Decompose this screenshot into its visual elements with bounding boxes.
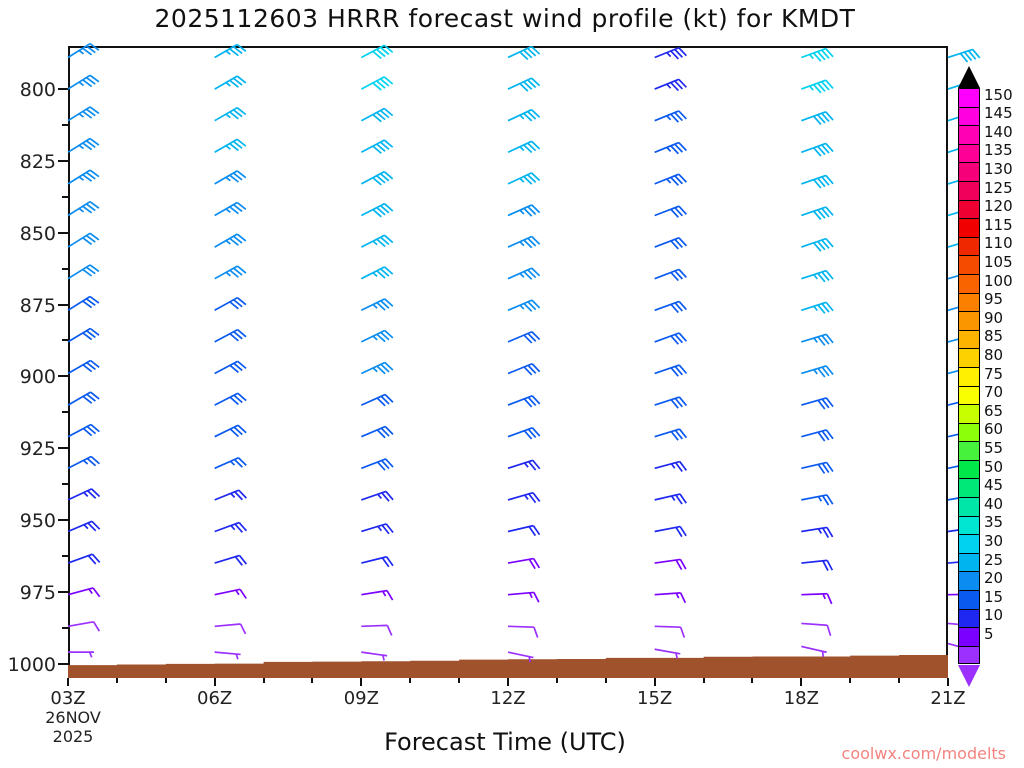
wind-barb xyxy=(68,202,99,216)
wind-barb xyxy=(508,626,538,637)
colorbar-tick-label: 45 xyxy=(984,476,1003,494)
colorbar-tick-label: 75 xyxy=(984,365,1003,383)
colorbar-cell[interactable] xyxy=(958,162,980,181)
wind-barb xyxy=(361,591,392,600)
wind-barb xyxy=(361,299,392,310)
wind-barb xyxy=(215,523,247,533)
wind-barb xyxy=(68,521,100,531)
colorbar-cell[interactable] xyxy=(958,590,980,609)
colorbar-cell[interactable] xyxy=(958,404,980,423)
wind-barb xyxy=(361,459,393,470)
wind-barb xyxy=(801,527,832,537)
colorbar-cell[interactable] xyxy=(958,367,980,386)
wind-barb xyxy=(215,490,247,500)
wind-barb xyxy=(361,235,392,247)
colorbar-tick-label: 70 xyxy=(984,383,1003,401)
wind-barb xyxy=(68,489,100,500)
wind-barb xyxy=(215,76,246,89)
colorbar-tick-label: 55 xyxy=(984,439,1003,457)
wind-barb xyxy=(655,494,687,504)
wind-barb xyxy=(655,238,687,249)
wind-barb xyxy=(68,554,100,564)
wind-barb xyxy=(361,77,392,90)
colorbar-tick-label: 110 xyxy=(984,234,1013,252)
wind-barb xyxy=(215,393,246,405)
colorbar-cell[interactable] xyxy=(958,107,980,126)
colorbar-cell[interactable] xyxy=(958,423,980,442)
colorbar-tick-label: 40 xyxy=(984,495,1003,513)
wind-barb xyxy=(801,646,826,656)
watermark: coolwx.com/modelts xyxy=(842,744,1006,763)
wind-barb xyxy=(215,555,247,565)
wind-barb xyxy=(801,302,833,313)
colorbar-tick-label: 30 xyxy=(984,532,1003,550)
wind-barb xyxy=(68,652,94,657)
wind-barb-column xyxy=(215,44,247,659)
colorbar-cell[interactable] xyxy=(958,460,980,479)
wind-barb xyxy=(801,495,832,505)
wind-barb xyxy=(361,524,393,534)
wind-barb xyxy=(215,589,247,598)
colorbar-cell[interactable] xyxy=(958,293,980,312)
wind-barb xyxy=(68,360,99,373)
colorbar-tick-label: 35 xyxy=(984,513,1003,531)
colorbar-tick-label: 80 xyxy=(984,346,1003,364)
wind-barb xyxy=(361,140,392,153)
colorbar-tick-label: 10 xyxy=(984,606,1003,624)
wind-barb xyxy=(361,395,393,406)
colorbar-cell[interactable] xyxy=(958,627,980,646)
wind-barb xyxy=(215,234,246,247)
wind-barb xyxy=(68,139,99,153)
wind-barb xyxy=(655,365,687,376)
colorbar-cell[interactable] xyxy=(958,478,980,497)
colorbar-cell[interactable] xyxy=(958,144,980,163)
wind-barb xyxy=(68,588,100,597)
wind-barb xyxy=(361,652,387,660)
colorbar-cell[interactable] xyxy=(958,88,980,107)
colorbar-tick-label: 15 xyxy=(984,588,1003,606)
colorbar-cell[interactable] xyxy=(958,181,980,200)
wind-barb xyxy=(655,527,686,537)
wind-barb xyxy=(68,456,99,468)
colorbar-cell[interactable] xyxy=(958,200,980,219)
colorbar-cell[interactable] xyxy=(958,609,980,628)
colorbar-cell[interactable] xyxy=(958,255,980,274)
colorbar-cell[interactable] xyxy=(958,218,980,237)
wind-barb xyxy=(801,560,832,570)
colorbar-tick-label: 60 xyxy=(984,420,1003,438)
wind-barb xyxy=(215,171,246,184)
wind-barb xyxy=(215,624,246,634)
wind-barb xyxy=(215,458,247,469)
wind-barb xyxy=(801,430,833,441)
wind-barb xyxy=(361,330,392,341)
wind-barb xyxy=(801,462,833,473)
colorbar-tick-label: 145 xyxy=(984,104,1013,122)
wind-barb-column xyxy=(655,48,687,659)
wind-barb xyxy=(361,363,393,374)
wind-barb xyxy=(655,79,687,90)
wind-barb xyxy=(801,143,833,156)
wind-barb xyxy=(215,108,246,121)
wind-barb xyxy=(508,364,540,375)
wind-profile-chart: 2025112603 HRRR forecast wind profile (k… xyxy=(0,0,1024,768)
colorbar-tick-label: 50 xyxy=(984,458,1003,476)
colorbar-tick-label: 65 xyxy=(984,402,1003,420)
wind-barb xyxy=(68,233,99,247)
colorbar-tick-label: 95 xyxy=(984,290,1003,308)
colorbar-tick-label: 100 xyxy=(984,272,1013,290)
wind-barb xyxy=(215,425,246,436)
wind-barb xyxy=(508,332,540,343)
wind-barb xyxy=(655,111,687,122)
wind-barb xyxy=(215,330,246,342)
wind-barb xyxy=(68,75,99,89)
colorbar-cell[interactable] xyxy=(958,386,980,405)
colorbar-under-arrow xyxy=(958,665,980,687)
wind-barb xyxy=(655,333,687,344)
wind-barb xyxy=(508,428,540,439)
colorbar-tick-label: 5 xyxy=(984,625,994,643)
wind-barb xyxy=(508,460,540,470)
wind-barb xyxy=(801,271,833,282)
wind-barb xyxy=(801,594,831,604)
wind-barb xyxy=(361,625,391,635)
wind-barb-column xyxy=(508,47,540,663)
wind-barb xyxy=(508,592,539,602)
wind-barb xyxy=(68,44,99,58)
colorbar-tick-label: 115 xyxy=(984,216,1013,234)
wind-barb xyxy=(508,47,540,60)
wind-barb xyxy=(801,366,833,377)
wind-barb xyxy=(508,237,540,248)
wind-barb xyxy=(508,268,540,279)
colorbar-cell[interactable] xyxy=(958,534,980,553)
wind-barb xyxy=(801,49,833,62)
wind-barb xyxy=(215,298,246,311)
wind-barb xyxy=(68,107,99,121)
wind-barb xyxy=(801,398,833,409)
wind-barb xyxy=(361,45,392,58)
wind-barb xyxy=(68,297,99,311)
wind-barb xyxy=(508,78,540,91)
wind-barb xyxy=(68,424,99,436)
wind-barb xyxy=(801,239,833,252)
wind-barb xyxy=(361,491,393,501)
wind-barb xyxy=(215,139,246,152)
wind-barb xyxy=(215,361,246,373)
colorbar-cell[interactable] xyxy=(958,571,980,590)
wind-barb xyxy=(655,269,687,280)
colorbar-cell[interactable] xyxy=(958,330,980,349)
colorbar-over-arrow xyxy=(958,66,980,88)
colorbar-cell[interactable] xyxy=(958,348,980,367)
wind-barb xyxy=(655,143,687,154)
colorbar-tick-label: 90 xyxy=(984,309,1003,327)
wind-barb xyxy=(801,175,833,188)
wind-barb xyxy=(655,429,687,440)
colorbar-tick-label: 125 xyxy=(984,179,1013,197)
wind-barb xyxy=(68,265,99,279)
wind-barb xyxy=(801,207,833,220)
wind-barb xyxy=(948,49,980,61)
colorbar-cell[interactable] xyxy=(958,274,980,293)
wind-barb xyxy=(361,172,392,185)
wind-barb-layer xyxy=(0,0,1024,768)
colorbar-cell[interactable] xyxy=(958,237,980,256)
wind-barb xyxy=(508,141,540,152)
wind-barb xyxy=(655,397,687,408)
colorbar-cell[interactable] xyxy=(958,516,980,535)
wind-barb xyxy=(68,329,99,342)
wind-barb-columns xyxy=(68,44,980,662)
wind-barb xyxy=(655,301,687,312)
colorbar-cell[interactable] xyxy=(958,646,980,665)
colorbar-cell[interactable] xyxy=(958,553,980,572)
wind-barb xyxy=(801,80,833,93)
colorbar-tick-label: 85 xyxy=(984,327,1003,345)
wind-barb xyxy=(361,267,392,279)
wind-barb xyxy=(655,593,686,603)
colorbar-tick-label: 135 xyxy=(984,141,1013,159)
wind-barb xyxy=(508,396,540,407)
wind-barb xyxy=(655,626,685,637)
wind-barb xyxy=(508,526,540,536)
wind-barb xyxy=(215,202,246,215)
wind-barb xyxy=(68,392,99,405)
wind-barb xyxy=(801,112,833,125)
wind-barb xyxy=(215,44,246,57)
wind-barb xyxy=(655,48,687,59)
colorbar-tick-label: 25 xyxy=(984,551,1003,569)
wind-barb xyxy=(655,462,687,472)
colorbar-cell[interactable] xyxy=(958,125,980,144)
wind-barb xyxy=(655,649,681,658)
colorbar-tick-label: 120 xyxy=(984,197,1013,215)
wind-barb xyxy=(655,559,686,569)
terrain-fill xyxy=(68,655,948,678)
colorbar-cell[interactable] xyxy=(958,441,980,460)
wind-barb xyxy=(68,170,99,184)
wind-barb-column xyxy=(801,49,833,657)
wind-barb xyxy=(801,334,833,345)
colorbar-tick-label: 20 xyxy=(984,569,1003,587)
colorbar-tick-label: 140 xyxy=(984,123,1013,141)
colorbar-tick-label: 105 xyxy=(984,253,1013,271)
colorbar-cell[interactable] xyxy=(958,497,980,516)
wind-barb xyxy=(361,108,392,121)
wind-barb xyxy=(215,266,246,279)
wind-barb xyxy=(508,300,540,311)
wind-barb xyxy=(361,204,392,217)
colorbar-cell[interactable] xyxy=(958,311,980,330)
wind-barb xyxy=(801,623,830,635)
wind-barb xyxy=(655,174,687,185)
wind-barb xyxy=(655,206,687,217)
wind-barb xyxy=(508,205,540,216)
wind-barb xyxy=(508,559,539,569)
colorbar[interactable] xyxy=(958,88,980,664)
wind-barb xyxy=(508,173,540,184)
colorbar-tick-label: 130 xyxy=(984,160,1013,178)
wind-barb xyxy=(361,557,393,567)
wind-barb-column xyxy=(68,44,100,658)
wind-barb xyxy=(508,493,540,503)
wind-barb xyxy=(68,622,99,631)
wind-barb xyxy=(215,652,241,659)
wind-barb xyxy=(361,427,393,438)
colorbar-tick-label: 150 xyxy=(984,86,1013,104)
wind-barb xyxy=(508,110,540,121)
wind-barb-column xyxy=(361,45,393,660)
